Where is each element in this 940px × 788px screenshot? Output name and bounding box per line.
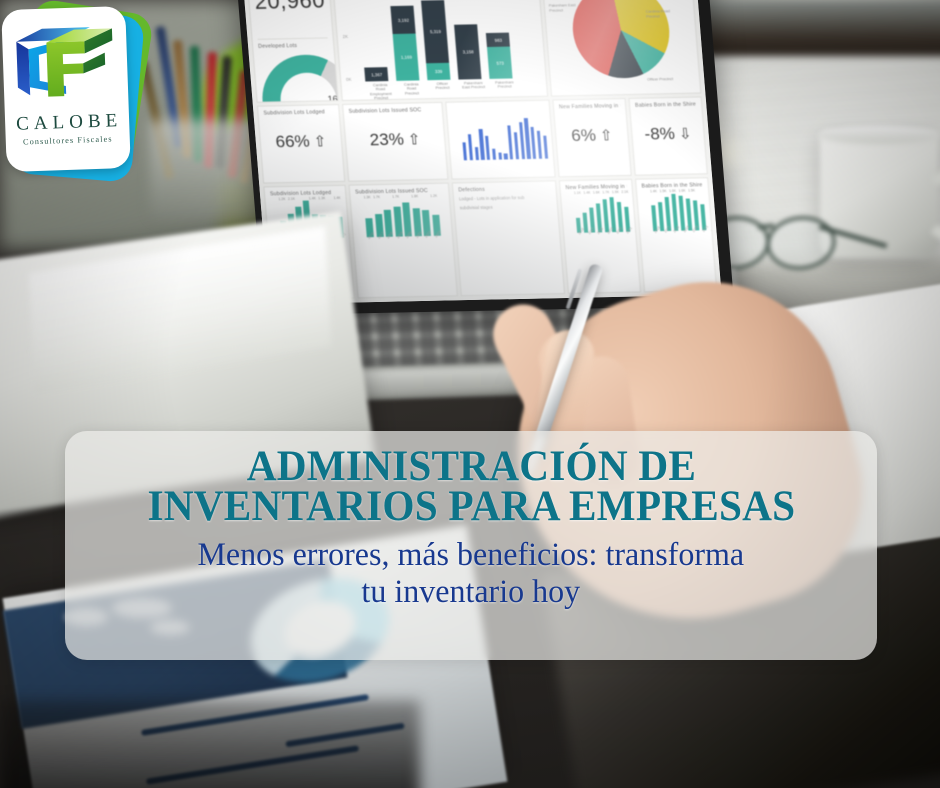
kpi-value-row: 66% ⇧ <box>264 115 338 168</box>
stacked-bar: 983 573 <box>483 0 513 79</box>
pie-label: Officer Precinct <box>647 77 673 82</box>
y-tick: 2K <box>342 33 348 38</box>
kpi-value: 66% <box>275 132 311 153</box>
minichart-card-babies-born: Babies Born in the Shire 1.4K1.5K 1.6K1.… <box>635 177 717 292</box>
kpi-value-row: 6% ⇧ <box>559 109 624 162</box>
text-banner: ADMINISTRACIÓN DE INVENTARIOS PARA EMPRE… <box>65 431 877 660</box>
kpi-value: -8% <box>644 124 676 145</box>
trend-down-icon: ⇩ <box>678 125 692 143</box>
pie-label: Cardinia Road Precinct <box>645 9 680 19</box>
stacked-bar: 3,158 <box>451 0 481 80</box>
trend-up-icon: ⇧ <box>313 132 327 150</box>
dashboard-kpi-total-card: 20,960 Developed Lots 16248 0 <box>247 0 339 103</box>
defections-text-2: subdivisial stages <box>459 201 552 212</box>
page-title: ADMINISTRACIÓN DE INVENTARIOS PARA EMPRE… <box>141 447 800 528</box>
minichart-x-labels: 20162017 20182019 20202021 20222023 <box>359 236 447 242</box>
kpi-card-lots-issued: Subdivision Lots Issued SOC 23% ⇧ <box>342 102 448 182</box>
gauge-max: 20k <box>324 102 332 103</box>
kpi-value-row: -8% ⇩ <box>635 108 700 161</box>
kpi-total-value: 20,960 <box>253 0 325 13</box>
gauge-value: 16248 <box>327 94 339 103</box>
page-subtitle: Menos errores, más beneficios: transform… <box>188 537 754 611</box>
desk-shadow <box>0 700 420 788</box>
blue-sparkline <box>452 105 548 161</box>
y-tick: 0K <box>346 77 352 82</box>
coffee-mug-rim <box>818 126 940 144</box>
pie-label: Pakenham East Precinct <box>549 3 588 13</box>
brand-name: CALOBE <box>5 110 130 136</box>
brand-logo-badge[interactable]: CALOBE Consultores Fiscales <box>4 2 150 180</box>
stacked-bar: 1,367 <box>358 0 388 82</box>
kpi-card-lots-lodged: Subdivision Lots Lodged 66% ⇧ <box>257 104 345 183</box>
gauge-title: Developed Lots <box>258 42 329 49</box>
stacked-bar-x-labels: Cardinia Road Employment Precinct Cardin… <box>346 78 542 101</box>
minichart-x-labels: 20162017 20182019 20202021 20222023 <box>645 230 706 235</box>
logo-wordmark: CALOBE Consultores Fiscales <box>5 110 130 147</box>
x-label: Pakenham Precinct <box>493 80 517 98</box>
window-frame <box>700 0 940 56</box>
x-label: Pakenham East Precinct <box>462 81 486 99</box>
cf-isometric-logo-icon <box>12 22 119 106</box>
pie-chart-card: Cardinia Road Employment Precinct Pakenh… <box>541 0 701 97</box>
defections-card: Defections Lodged - Lots in application … <box>452 180 565 296</box>
kpi-title: Babies Born in the Shire <box>635 102 697 109</box>
kpi-card-new-families: New Families Moving in the Shire 6% ⇧ <box>552 98 631 177</box>
kpi-value-row: 23% ⇧ <box>349 113 441 167</box>
trend-up-icon: ⇧ <box>599 126 613 144</box>
kpi-title: New Families Moving in the Shire <box>559 103 621 110</box>
minichart-x-labels: 20162017 20182019 20202021 20222023 <box>569 232 630 237</box>
pencil-cup <box>150 120 265 220</box>
minichart-card-lots-issued: Subdivision Lots Issued SOC 1.3K1.7K 1.7… <box>349 183 458 299</box>
subheadline-line-2: tu inventario hoy <box>362 574 581 610</box>
kpi-value: 6% <box>570 126 596 146</box>
stacked-bar: 5,319 339 <box>420 0 450 80</box>
poster-canvas: 20,960 Developed Lots 16248 0 <box>0 0 940 788</box>
subheadline-line-1: Menos errores, más beneficios: transform… <box>198 537 745 573</box>
gauge-axis: 0 20k <box>263 102 334 103</box>
x-label: Cardinia Road Precinct <box>400 82 424 100</box>
stacked-bar: 3,192 1,169 <box>389 0 419 81</box>
developed-lots-gauge: 16248 <box>259 54 339 103</box>
kpi-value: 23% <box>369 130 405 151</box>
sparkline-card <box>445 100 555 180</box>
kpi-card-babies-born: Babies Born in the Shire -8% ⇩ <box>629 96 708 175</box>
x-label: Officer Precinct <box>431 82 455 100</box>
headline-line-2: INVENTARIOS PARA EMPRESAS <box>147 483 795 530</box>
logo-card: CALOBE Consultores Fiscales <box>1 6 131 172</box>
x-label: Cardinia Road Employment Precinct <box>369 83 393 101</box>
eyeglasses-lens <box>763 212 838 273</box>
stacked-bar-chart-card: Developed Lots Undeveloped Lots 4K 2K 0K <box>332 0 548 101</box>
stacked-bars: 1,367 3,192 1,169 5,319 339 <box>346 0 519 82</box>
trend-up-icon: ⇧ <box>407 130 421 148</box>
brand-tagline: Consultores Fiscales <box>6 134 130 147</box>
